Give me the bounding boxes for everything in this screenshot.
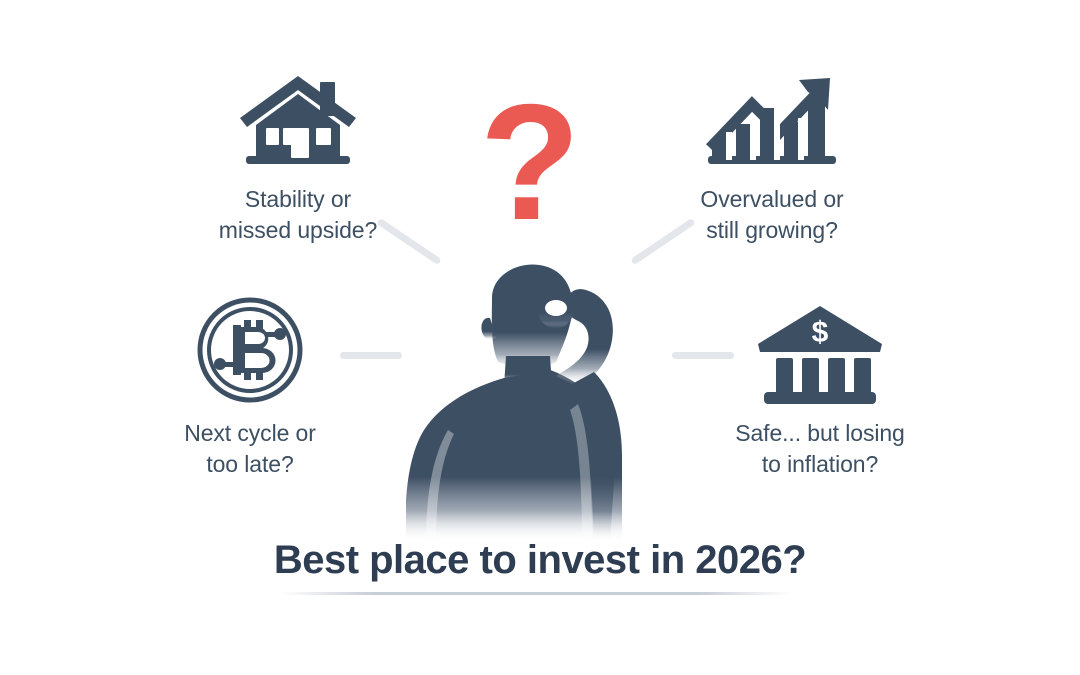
growth-chart-icon <box>652 62 892 170</box>
house-icon <box>178 62 418 170</box>
quadrant-bank: $ Safe... but losing to inflation? <box>700 296 940 480</box>
quadrant-label-real-estate: Stability or missed upside? <box>178 184 418 246</box>
page-title: Best place to invest in 2026? <box>0 538 1080 583</box>
connector-line-bottom-right <box>672 352 734 359</box>
svg-text:$: $ <box>812 316 829 349</box>
quadrant-real-estate: Stability or missed upside? <box>178 62 418 246</box>
question-mark-icon: ? <box>440 80 620 245</box>
bank-icon: $ <box>700 296 940 404</box>
bitcoin-coin-icon <box>130 296 370 404</box>
thinking-person-silhouette <box>380 252 680 542</box>
quadrant-label-bank: Safe... but losing to inflation? <box>700 418 940 480</box>
quadrant-label-crypto: Next cycle or too late? <box>130 418 370 480</box>
headline-divider <box>280 592 792 595</box>
quadrant-stocks: Overvalued or still growing? <box>652 62 892 246</box>
quadrant-label-stocks: Overvalued or still growing? <box>652 184 892 246</box>
quadrant-crypto: Next cycle or too late? <box>130 296 370 480</box>
infographic-canvas: Stability or missed upside? <box>0 0 1080 675</box>
